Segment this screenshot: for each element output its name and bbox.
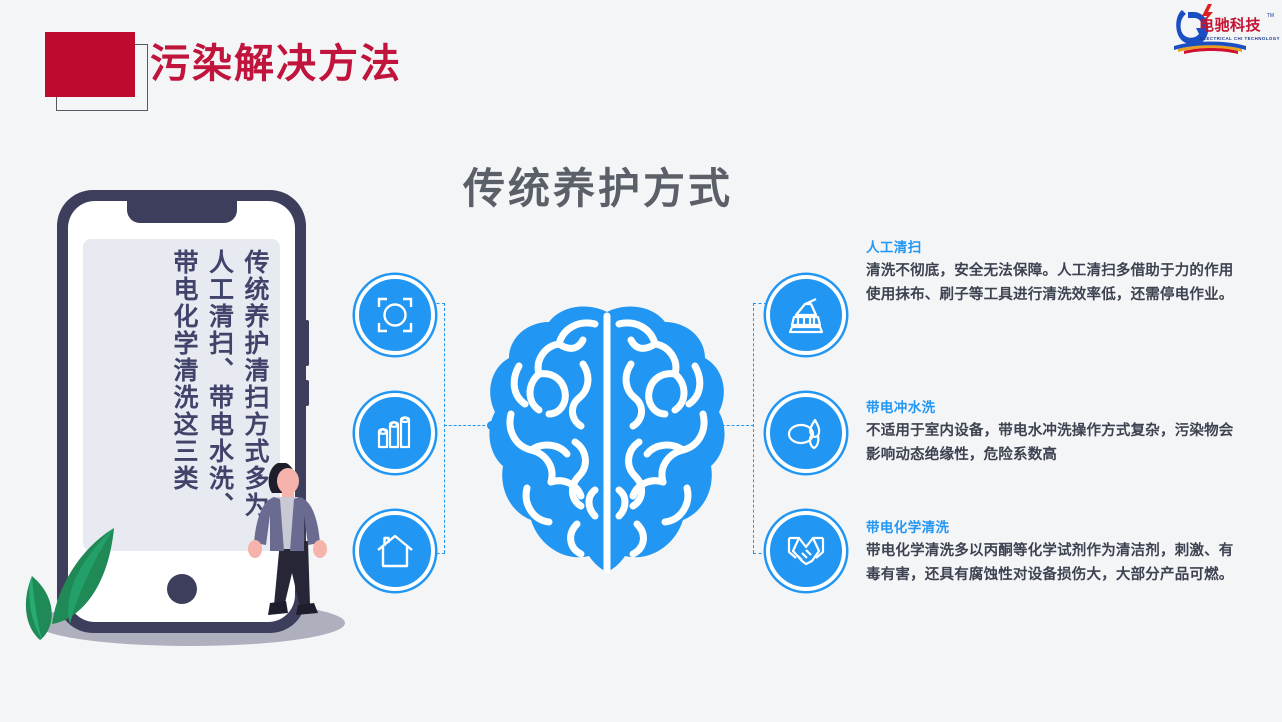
logo-name-en: ELECTRICAL CHI TECHNOLOGY bbox=[1200, 36, 1280, 41]
connector-left-bus bbox=[444, 303, 445, 553]
plant-leaves-decoration bbox=[18, 520, 148, 650]
phone-side-button bbox=[305, 320, 309, 366]
icon-house[interactable] bbox=[355, 511, 435, 591]
info-block-manual-sweep: 人工清扫 清洗不彻底，安全无法保障。人工清扫多借助于力的作用使用抹布、刷子等工具… bbox=[866, 240, 1238, 307]
broom-sweep-icon bbox=[786, 296, 826, 334]
info-body: 不适用于室内设备，带电水冲洗操作方式复杂，污染物会影响动态绝缘性，危险系数高 bbox=[866, 420, 1238, 467]
connector-right-bus bbox=[753, 303, 754, 553]
handshake-icon bbox=[786, 534, 826, 568]
info-body: 带电化学清洗多以丙酮等化学试剂作为清洁剂，刺激、有毒有害，还具有腐蚀性对设备损伤… bbox=[866, 540, 1238, 587]
focus-frame-icon bbox=[376, 296, 414, 334]
icon-handshake[interactable] bbox=[766, 511, 846, 591]
company-logo: 电驰科技 ELECTRICAL CHI TECHNOLOGY TM bbox=[1172, 2, 1276, 54]
info-heading: 带电化学清洗 bbox=[866, 520, 1238, 536]
water-spray-icon bbox=[787, 415, 825, 451]
phone-side-button-2 bbox=[305, 380, 309, 406]
icon-water-spray[interactable] bbox=[766, 393, 846, 473]
icon-broom-sweep[interactable] bbox=[766, 275, 846, 355]
logo-trademark: TM bbox=[1267, 13, 1274, 19]
brain-illustration-icon bbox=[483, 302, 731, 578]
logo-name-cn: 电驰科技 bbox=[1199, 18, 1261, 33]
icon-focus-frame[interactable] bbox=[355, 275, 435, 355]
info-block-water-wash: 带电冲水洗 不适用于室内设备，带电水冲洗操作方式复杂，污染物会影响动态绝缘性，危… bbox=[866, 400, 1238, 467]
house-icon bbox=[376, 533, 414, 569]
info-block-chemical-clean: 带电化学清洗 带电化学清洗多以丙酮等化学试剂作为清洁剂，刺激、有毒有害，还具有腐… bbox=[866, 520, 1238, 587]
info-heading: 人工清扫 bbox=[866, 240, 1238, 256]
info-heading: 带电冲水洗 bbox=[866, 400, 1238, 416]
section-heading: 传统养护方式 bbox=[463, 168, 733, 210]
phone-notch bbox=[127, 201, 237, 223]
slide-canvas: 污染解决方法 电驰科技 ELECTRICAL CHI TECHNOLOGY TM… bbox=[0, 0, 1282, 722]
icon-bar-chart[interactable] bbox=[355, 393, 435, 473]
person-illustration bbox=[240, 455, 350, 635]
page-title: 污染解决方法 bbox=[150, 44, 402, 84]
info-body: 清洗不彻底，安全无法保障。人工清扫多借助于力的作用使用抹布、刷子等工具进行清洗效… bbox=[866, 260, 1238, 307]
header-accent-square bbox=[45, 32, 135, 97]
phone-home-button bbox=[167, 574, 197, 604]
bar-chart-icon bbox=[376, 416, 414, 450]
